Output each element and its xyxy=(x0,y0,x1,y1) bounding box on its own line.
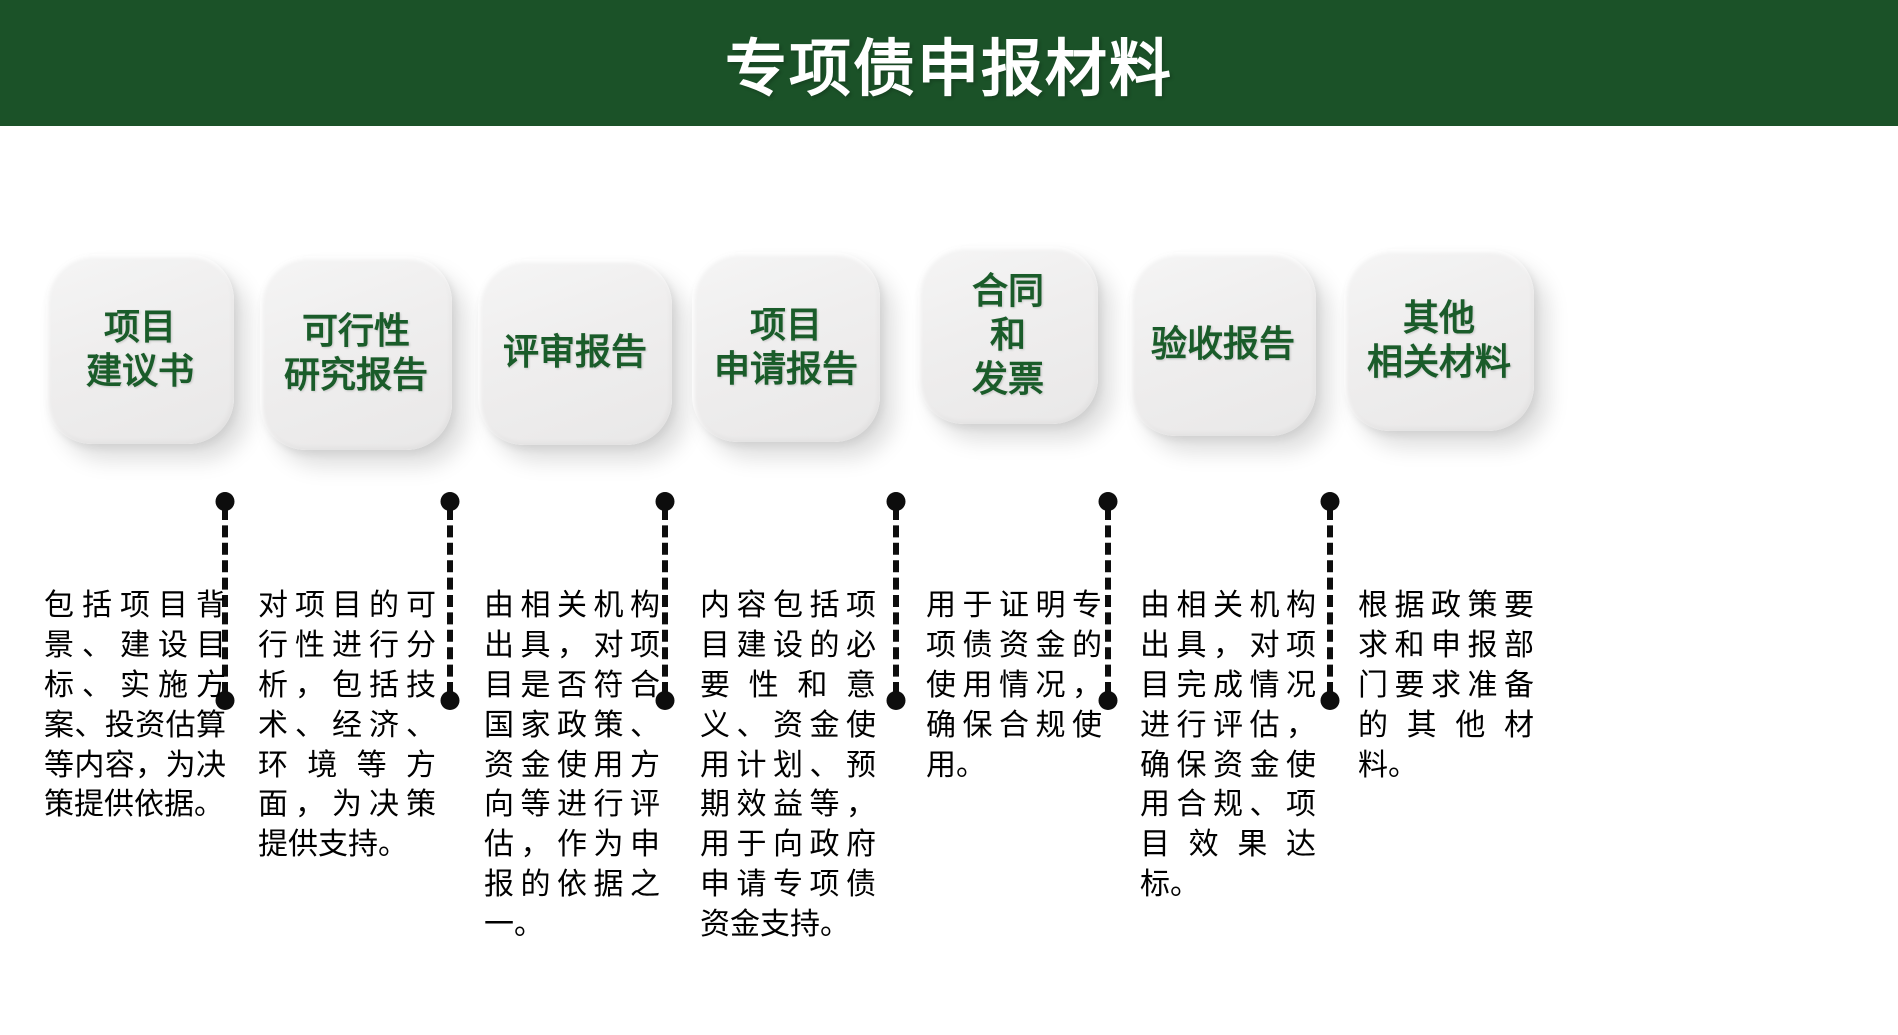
description-5: 用于证明专项债资金的使用情况，确保合规使用。 xyxy=(926,586,1102,785)
card-4[interactable]: 项目 申请报告 xyxy=(692,252,880,442)
card-2[interactable]: 可行性 研究报告 xyxy=(260,256,452,450)
card-row: 项目 建议书 可行性 研究报告 评审报告 项目 申请报告 合同 和 发票 验收报… xyxy=(0,126,1898,546)
description-7: 根据政策要求和申报部门要求准备的其他材料。 xyxy=(1358,586,1534,785)
description-1: 包括项目背景、建设目标、实施方案、投资估算等内容，为决策提供依据。 xyxy=(44,586,226,825)
description-3: 由相关机构出具，对项目是否符合国家政策、资金使用方向等进行评估，作为申报的依据之… xyxy=(484,586,660,945)
card-label-3: 评审报告 xyxy=(497,330,653,374)
card-3[interactable]: 评审报告 xyxy=(478,259,672,445)
page-title: 专项债申报材料 xyxy=(725,18,1173,108)
card-1[interactable]: 项目 建议书 xyxy=(46,254,234,444)
description-row: 包括项目背景、建设目标、实施方案、投资估算等内容，为决策提供依据。 对项目的可行… xyxy=(0,586,1898,1006)
card-label-7: 其他 相关材料 xyxy=(1361,296,1517,385)
card-7[interactable]: 其他 相关材料 xyxy=(1344,249,1534,431)
card-6[interactable]: 验收报告 xyxy=(1130,252,1316,436)
card-label-6: 验收报告 xyxy=(1145,322,1301,366)
card-label-1: 项目 建议书 xyxy=(80,305,200,394)
description-6: 由相关机构出具，对项目完成情况进行评估，确保资金使用合规、项目效果达标。 xyxy=(1140,586,1316,905)
card-label-5: 合同 和 发票 xyxy=(966,269,1050,402)
description-4: 内容包括项目建设的必要性和意义、资金使用计划、预期效益等，用于向政府申请专项债资… xyxy=(700,586,876,945)
card-label-4: 项目 申请报告 xyxy=(708,303,864,392)
header-bar: 专项债申报材料 xyxy=(0,0,1898,126)
card-5[interactable]: 合同 和 发票 xyxy=(918,246,1098,424)
card-label-2: 可行性 研究报告 xyxy=(278,309,434,398)
description-2: 对项目的可行性进行分析，包括技术、经济、环境等方面，为决策提供支持。 xyxy=(258,586,436,865)
